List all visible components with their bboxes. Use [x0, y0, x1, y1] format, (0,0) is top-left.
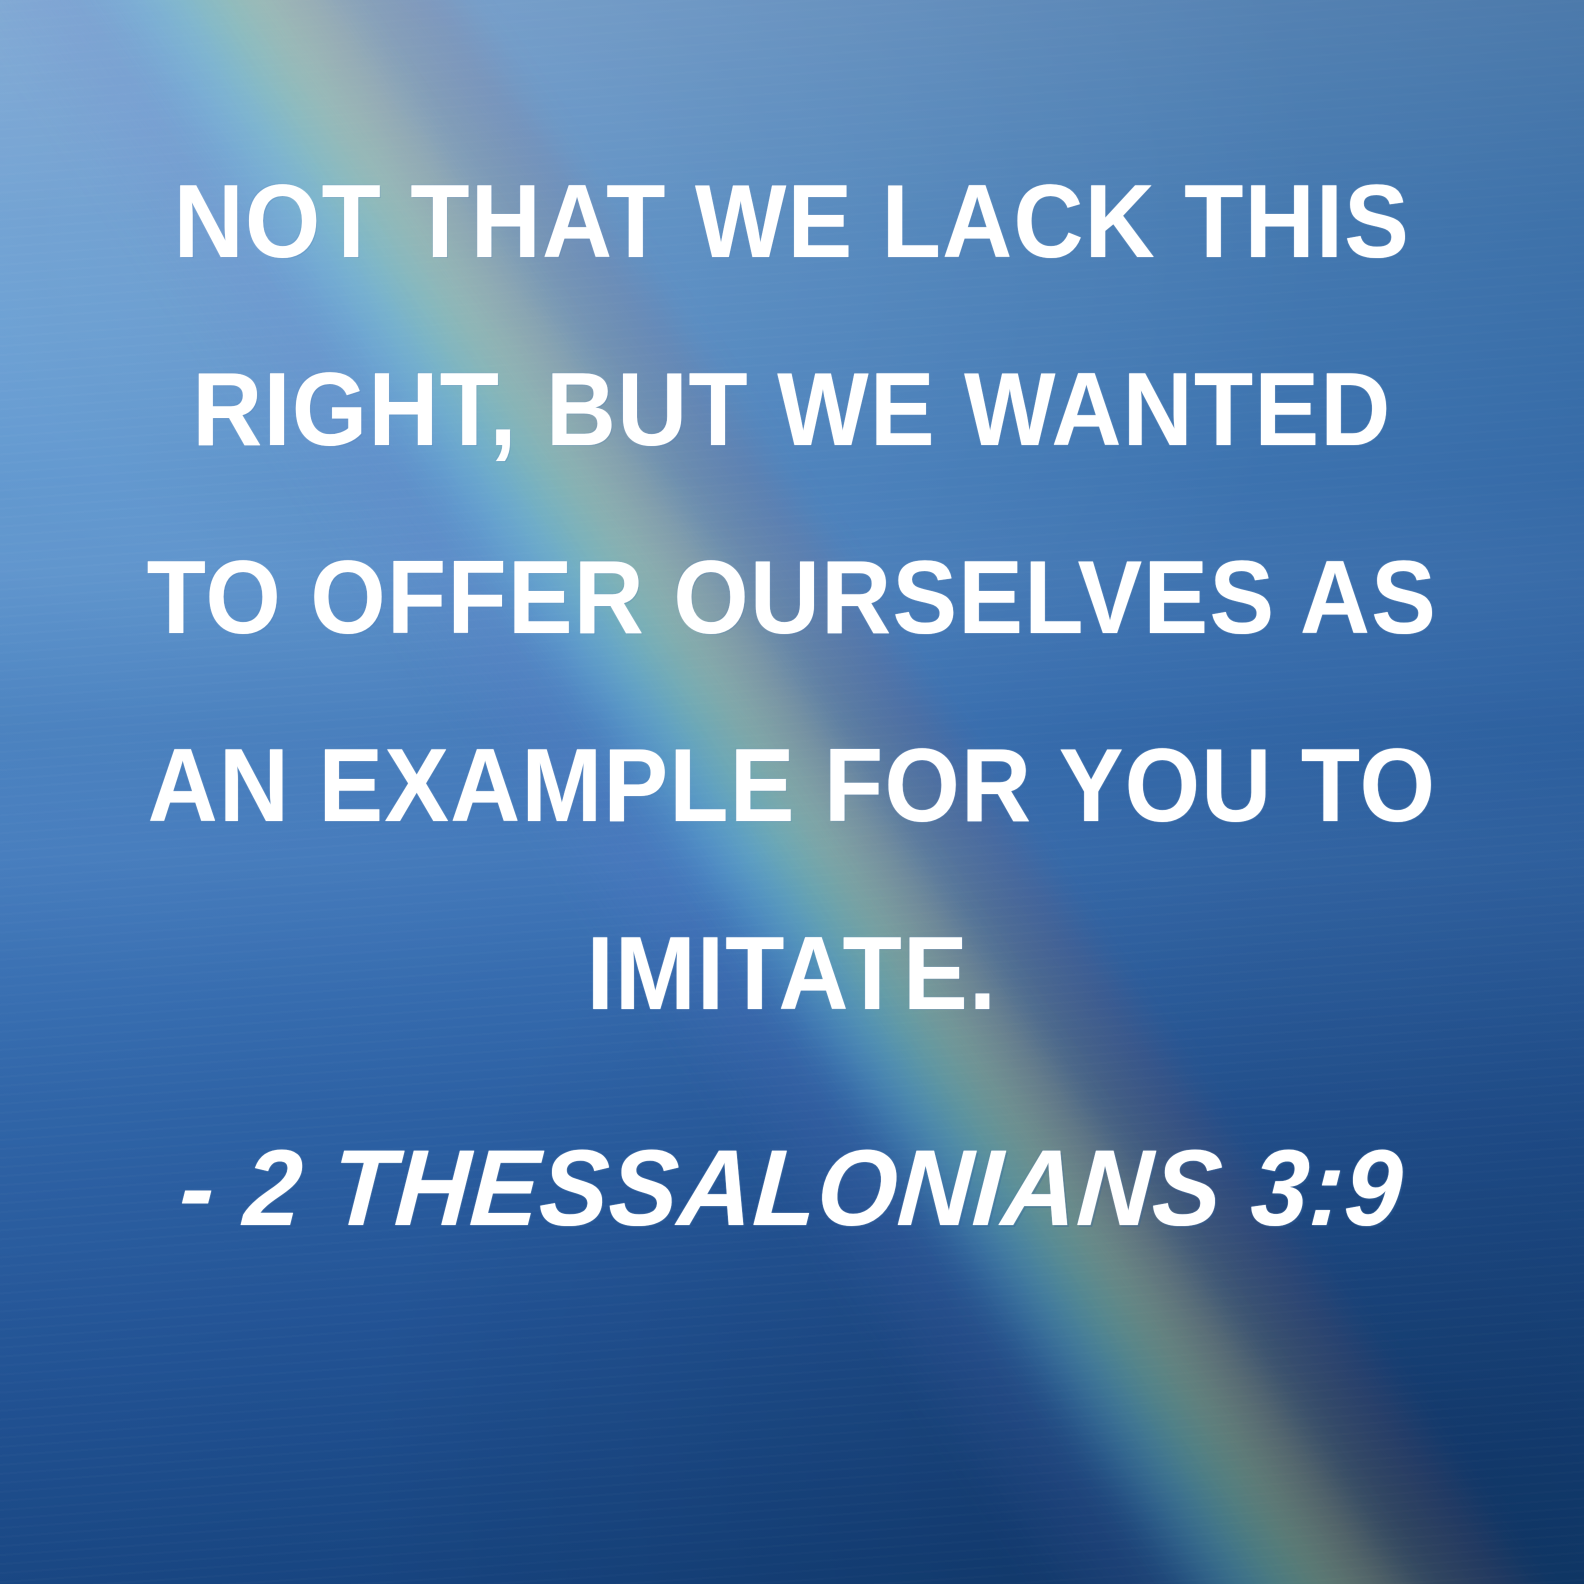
verse-line-3: TO OFFER OURSELVES AS	[55, 504, 1528, 692]
verse-line-5: IMITATE.	[55, 880, 1528, 1068]
citation-block: - 2 THESSALONIANS 3:9	[0, 1128, 1584, 1248]
verse-text-block: NOT THAT WE LACK THIS RIGHT, BUT WE WANT…	[0, 128, 1584, 1068]
verse-line-1: NOT THAT WE LACK THIS	[55, 128, 1528, 316]
verse-line-2: RIGHT, BUT WE WANTED	[55, 316, 1528, 504]
verse-citation: - 2 THESSALONIANS 3:9	[177, 1128, 1408, 1248]
verse-line-4: AN EXAMPLE FOR YOU TO	[55, 692, 1528, 880]
verse-image-canvas: NOT THAT WE LACK THIS RIGHT, BUT WE WANT…	[0, 0, 1584, 1584]
